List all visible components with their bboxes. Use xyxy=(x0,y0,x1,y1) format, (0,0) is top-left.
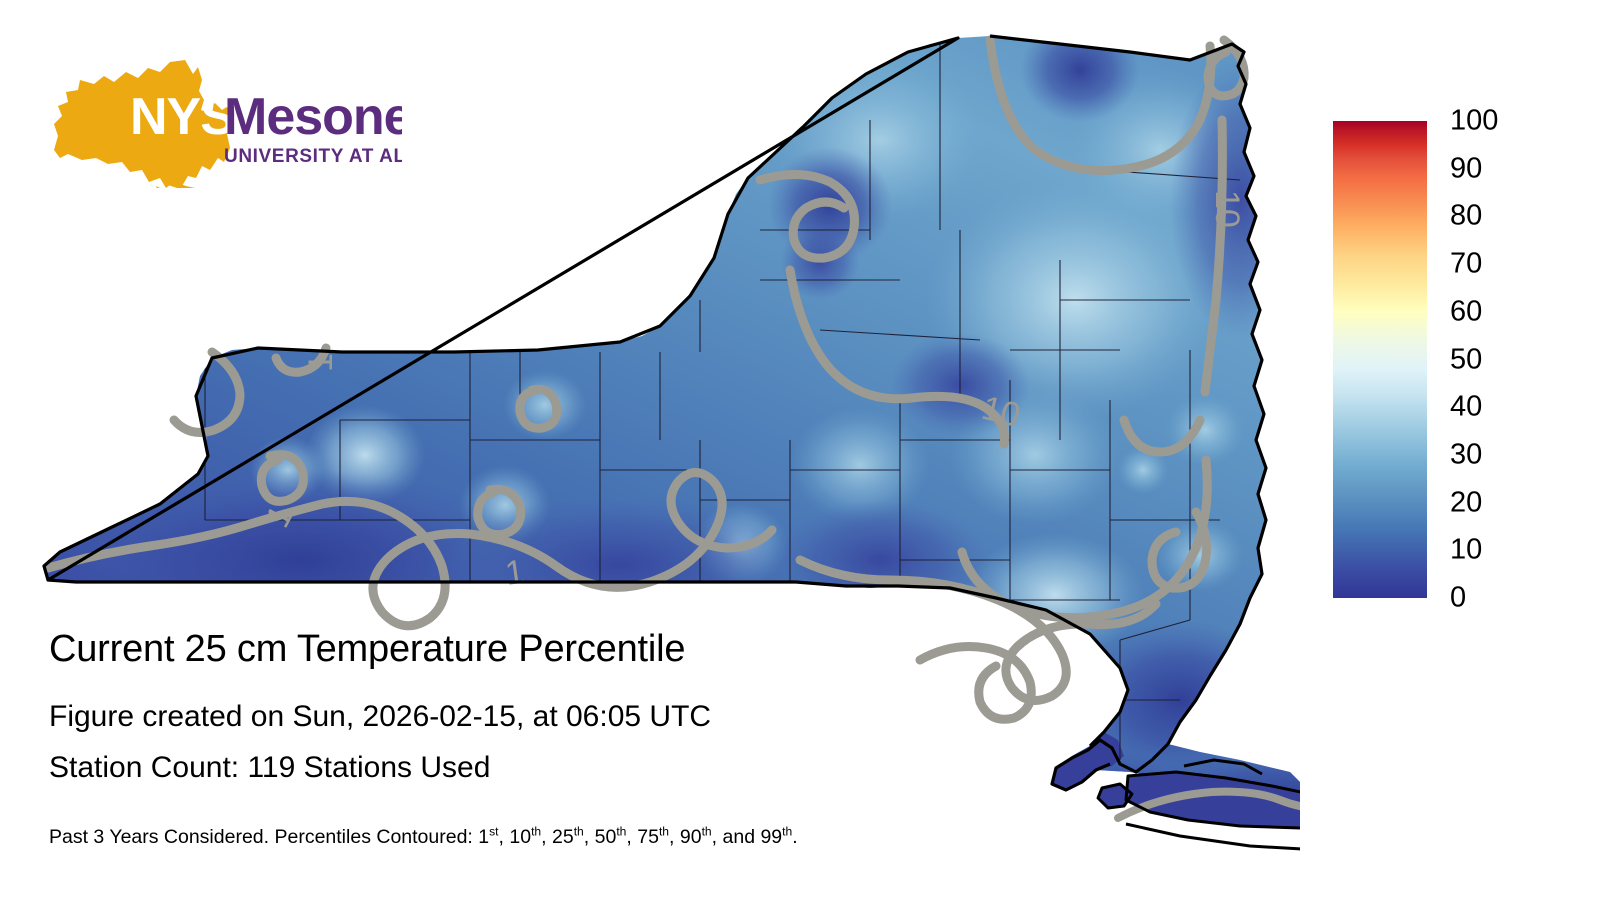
ordinal-suffix: th xyxy=(702,825,712,839)
colorbar-tick-labels: 1009080706050403020100 xyxy=(1450,121,1570,598)
colorbar-tick-60: 60 xyxy=(1450,297,1482,326)
contour-label-10a: 10 xyxy=(1208,190,1246,228)
ordinal-suffix: th xyxy=(574,825,584,839)
ordinal-suffix: th xyxy=(531,825,541,839)
colorbar-tick-40: 40 xyxy=(1450,393,1482,422)
colorbar xyxy=(1333,121,1427,598)
contour-label-1a: 1 xyxy=(302,353,340,372)
ordinal-suffix: th xyxy=(782,825,792,839)
colorbar-tick-80: 80 xyxy=(1450,202,1482,231)
ordinal-suffix: th xyxy=(616,825,626,839)
figure-root: NYS Mesonet UNIVERSITY AT ALBANY xyxy=(0,0,1600,900)
colorbar-tick-20: 20 xyxy=(1450,488,1482,517)
created-timestamp: Figure created on Sun, 2026-02-15, at 06… xyxy=(49,702,711,732)
ordinal-suffix: th xyxy=(659,825,669,839)
colorbar-tick-70: 70 xyxy=(1450,250,1482,279)
ordinal-suffix: st xyxy=(489,825,498,839)
colorbar-tick-100: 100 xyxy=(1450,107,1498,136)
colorbar-tick-10: 10 xyxy=(1450,536,1482,565)
colorbar-tick-50: 50 xyxy=(1450,345,1482,374)
colorbar-tick-0: 0 xyxy=(1450,584,1466,613)
colorbar-tick-90: 90 xyxy=(1450,154,1482,183)
contour-1-se-ring xyxy=(920,647,1031,720)
colorbar-tick-30: 30 xyxy=(1450,440,1482,469)
station-count: Station Count: 119 Stations Used xyxy=(49,753,490,783)
colorbar-gradient xyxy=(1333,121,1427,598)
contour-footnote: Past 3 Years Considered. Percentiles Con… xyxy=(49,828,798,848)
page-title: Current 25 cm Temperature Percentile xyxy=(49,630,685,668)
